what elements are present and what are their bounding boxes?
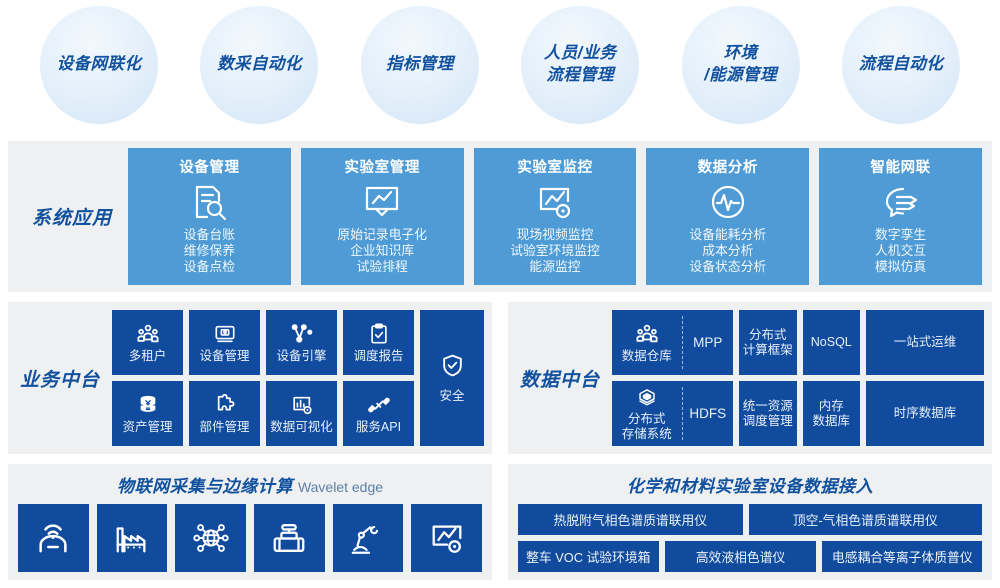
presentation-chart-icon xyxy=(362,180,402,224)
data-tile-storage-hdfs[interactable]: 分布式 存储系统 HDFS xyxy=(612,381,733,446)
users-group-icon xyxy=(137,322,159,347)
capability-circle-label: 数采自动化 xyxy=(217,54,302,76)
lab-chip-label: 电感耦合等离子体质普仪 xyxy=(832,547,973,566)
lab-chip-hplc[interactable]: 高效液相色谱仪 xyxy=(665,541,817,572)
lab-equipment-header: 化学和材料实验室设备数据接入 xyxy=(518,472,982,497)
tile-label: 服务API xyxy=(356,420,401,435)
system-app-card-data-analysis[interactable]: 数据分析 设备能耗分析 成本分析 设备状态分析 xyxy=(646,148,809,285)
iot-edge-panel: 物联网采集与边缘计算Wavelet edge xyxy=(8,464,492,580)
business-tile-service-api[interactable]: 服务API xyxy=(343,381,414,446)
data-platform-panel: 数据中台 数据仓库 xyxy=(508,302,992,454)
capability-circle-label: 流程自动化 xyxy=(859,54,944,76)
lab-equipment-rows: 热脱附气相色谱质谱联用仪 顶空-气相色谱质谱联用仪 整车 VOC 试验环境箱 高… xyxy=(518,504,982,572)
iot-edge-header: 物联网采集与边缘计算Wavelet edge xyxy=(18,472,482,497)
business-tile-multi-tenant[interactable]: 多租户 xyxy=(112,310,183,375)
business-platform-panel: 业务中台 多租户 xyxy=(8,302,492,454)
system-app-card-lab-management[interactable]: 实验室管理 原始记录电子化 企业知识库 试验排程 xyxy=(301,148,464,285)
business-tile-device-management[interactable]: 设备管理 xyxy=(189,310,260,375)
architecture-diagram: 设备网联化 数采自动化 指标管理 人员/业务 流程管理 环境 /能源管理 流程自… xyxy=(0,0,1000,588)
capability-circle-2[interactable]: 指标管理 xyxy=(361,6,479,124)
capability-circle-label: 指标管理 xyxy=(386,54,454,76)
tile-label: 安全 xyxy=(439,385,464,404)
data-tile-in-memory-db[interactable]: 内存 数据库 xyxy=(803,381,861,446)
puzzle-piece-icon xyxy=(214,393,236,418)
tile-label: 时序数据库 xyxy=(894,406,957,421)
tile-label: 调度报告 xyxy=(353,349,403,364)
tile-label: 分布式 存储系统 xyxy=(622,412,672,442)
users-group-icon xyxy=(636,322,658,347)
bar-chart-screen-icon xyxy=(291,393,313,418)
system-application-title: 系统应用 xyxy=(16,203,128,230)
factory-icon xyxy=(113,519,151,557)
tile-label: 一站式运维 xyxy=(894,335,957,350)
data-tile-one-stop-ops[interactable]: 一站式运维 xyxy=(866,310,984,375)
card-lines: 设备能耗分析 成本分析 设备状态分析 xyxy=(689,227,766,275)
data-platform-title: 数据中台 xyxy=(508,365,612,392)
data-tile-unified-resource-scheduling[interactable]: 统一资源 调度管理 xyxy=(739,381,797,446)
lab-chip-headspace-gcms[interactable]: 顶空-气相色谱质谱联用仪 xyxy=(749,504,982,535)
data-tile-distributed-compute[interactable]: 分布式 计算框架 xyxy=(739,310,797,375)
lab-chip-vehicle-voc-chamber[interactable]: 整车 VOC 试验环境箱 xyxy=(518,541,659,572)
system-app-card-lab-monitoring[interactable]: 实验室监控 现场视频监控 试验室环境监控 能源监控 xyxy=(474,148,637,285)
business-tile-component-management[interactable]: 部件管理 xyxy=(189,381,260,446)
tile-label: 统一资源 调度管理 xyxy=(743,399,793,429)
iot-tile-globe-network[interactable] xyxy=(175,504,246,572)
iot-icon-row xyxy=(18,504,482,572)
hexagon-stack-icon xyxy=(636,385,658,410)
tile-label: 内存 数据库 xyxy=(812,399,850,429)
robot-arm-icon xyxy=(349,519,387,557)
iot-tile-wifi-gateway[interactable] xyxy=(18,504,89,572)
capability-circle-5[interactable]: 流程自动化 xyxy=(842,6,960,124)
lab-chip-label: 高效液相色谱仪 xyxy=(696,547,786,566)
iot-tile-monitor-chart[interactable] xyxy=(411,504,482,572)
capability-circle-label: 设备网联化 xyxy=(57,54,142,76)
data-platform-grid-wrap: 数据仓库 MPP 分布式 计算框架 NoSQL xyxy=(612,310,992,446)
monitor-chart-eye-icon xyxy=(535,180,575,224)
data-tile-timeseries-db[interactable]: 时序数据库 xyxy=(866,381,984,446)
lab-chip-label: 整车 VOC 试验环境箱 xyxy=(526,547,650,566)
shield-check-icon xyxy=(440,353,465,381)
lab-chip-thermal-desorption-gcms[interactable]: 热脱附气相色谱质谱联用仪 xyxy=(518,504,743,535)
lab-equipment-panel: 化学和材料实验室设备数据接入 热脱附气相色谱质谱联用仪 顶空-气相色谱质谱联用仪… xyxy=(508,464,992,580)
business-platform-grid-wrap: 多租户 设备管理 xyxy=(112,310,492,446)
node-branch-icon xyxy=(291,322,313,347)
tile-label: NoSQL xyxy=(811,335,852,350)
data-platform-grid: 数据仓库 MPP 分布式 计算框架 NoSQL xyxy=(612,310,860,446)
lab-chip-label: 顶空-气相色谱质谱联用仪 xyxy=(793,510,938,529)
business-tile-security[interactable]: 安全 xyxy=(420,310,484,446)
tile-label: 部件管理 xyxy=(199,420,249,435)
database-coins-icon xyxy=(137,393,159,418)
tile-label: 资产管理 xyxy=(122,420,172,435)
capability-circle-0[interactable]: 设备网联化 xyxy=(40,6,158,124)
pulse-circle-icon xyxy=(708,180,748,224)
connected-chat-icon xyxy=(881,180,921,224)
data-tile-nosql[interactable]: NoSQL xyxy=(803,310,861,375)
lab-equipment-row-1: 热脱附气相色谱质谱联用仪 顶空-气相色谱质谱联用仪 xyxy=(518,504,982,535)
wifi-gateway-icon xyxy=(34,519,72,557)
card-title: 设备管理 xyxy=(179,156,239,177)
clipboard-check-icon xyxy=(368,322,390,347)
iot-tile-sensor-device[interactable] xyxy=(254,504,325,572)
iot-edge-title-en: Wavelet edge xyxy=(298,479,383,495)
data-tile-warehouse: 数据仓库 xyxy=(612,310,682,375)
system-application-cards: 设备管理 设备台账 维修保养 设备点检 实验室管理 xyxy=(128,148,992,285)
sensor-device-icon xyxy=(270,519,308,557)
business-tile-data-visualization[interactable]: 数据可视化 xyxy=(266,381,337,446)
device-box-icon xyxy=(214,322,236,347)
lab-equipment-title: 化学和材料实验室设备数据接入 xyxy=(627,477,873,496)
card-lines: 数字孪生 人机交互 模拟仿真 xyxy=(875,227,926,275)
data-tile-hdfs-label: HDFS xyxy=(683,381,733,446)
tile-label: 设备引擎 xyxy=(276,349,326,364)
card-title: 实验室管理 xyxy=(344,156,420,177)
data-tile-warehouse-mpp[interactable]: 数据仓库 MPP xyxy=(612,310,733,375)
tile-label: 设备管理 xyxy=(199,349,249,364)
capability-circle-3[interactable]: 人员/业务 流程管理 xyxy=(521,6,639,124)
tile-label: 多租户 xyxy=(129,349,167,364)
system-application-panel: 系统应用 设备管理 设备台账 维修保养 设备点检 实验室管理 xyxy=(8,141,992,292)
business-tile-dispatch-report[interactable]: 调度报告 xyxy=(343,310,414,375)
system-app-card-equipment-management[interactable]: 设备管理 设备台账 维修保养 设备点检 xyxy=(128,148,291,285)
capability-circle-1[interactable]: 数采自动化 xyxy=(200,6,318,124)
lab-chip-label: 热脱附气相色谱质谱联用仪 xyxy=(554,510,708,529)
iot-tile-factory[interactable] xyxy=(97,504,168,572)
lab-equipment-row-2: 整车 VOC 试验环境箱 高效液相色谱仪 电感耦合等离子体质普仪 xyxy=(518,541,982,572)
tile-label: 数据可视化 xyxy=(270,420,333,435)
data-tile-distributed-storage: 分布式 存储系统 xyxy=(612,381,682,446)
iot-tile-robot-arm[interactable] xyxy=(333,504,404,572)
capability-circles-row: 设备网联化 数采自动化 指标管理 人员/业务 流程管理 环境 /能源管理 流程自… xyxy=(0,0,1000,134)
business-tile-asset-management[interactable]: 资产管理 xyxy=(112,381,183,446)
document-search-icon xyxy=(189,180,229,224)
business-platform-title: 业务中台 xyxy=(8,365,112,392)
plug-connect-icon xyxy=(368,393,390,418)
globe-network-icon xyxy=(192,519,230,557)
data-platform-right-column: 一站式运维 时序数据库 xyxy=(866,310,984,446)
data-tile-mpp-label: MPP xyxy=(683,310,733,375)
iot-edge-title-cn: 物联网采集与边缘计算 xyxy=(117,477,293,496)
card-lines: 原始记录电子化 企业知识库 试验排程 xyxy=(337,227,427,275)
tile-label: 分布式 计算框架 xyxy=(743,328,793,358)
lab-chip-icp-ms[interactable]: 电感耦合等离子体质普仪 xyxy=(822,541,982,572)
system-app-card-intelligent-connectivity[interactable]: 智能网联 数字孪生 人机交互 模拟仿真 xyxy=(819,148,982,285)
card-title: 实验室监控 xyxy=(517,156,593,177)
business-tile-device-engine[interactable]: 设备引擎 xyxy=(266,310,337,375)
card-lines: 设备台账 维修保养 设备点检 xyxy=(184,227,235,275)
business-platform-grid: 多租户 设备管理 xyxy=(112,310,414,446)
tile-label: 数据仓库 xyxy=(622,349,672,364)
card-title: 数据分析 xyxy=(698,156,758,177)
capability-circle-label: 环境 /能源管理 xyxy=(704,43,777,87)
card-title: 智能网联 xyxy=(870,156,930,177)
capability-circle-4[interactable]: 环境 /能源管理 xyxy=(682,6,800,124)
monitor-chart-eye-icon xyxy=(428,519,466,557)
capability-circle-label: 人员/业务 流程管理 xyxy=(544,43,617,87)
card-lines: 现场视频监控 试验室环境监控 能源监控 xyxy=(510,227,600,275)
